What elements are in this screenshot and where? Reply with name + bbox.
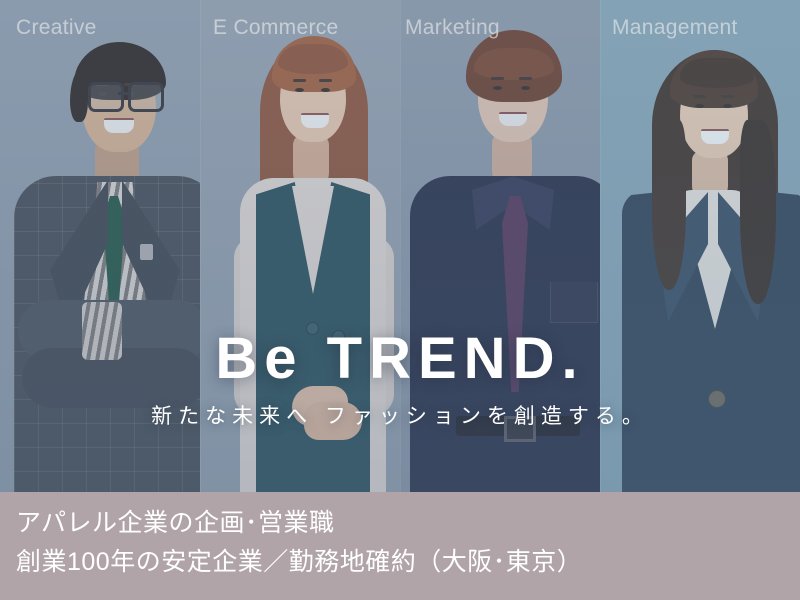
hair-side bbox=[70, 70, 88, 122]
headline-block: Be TREND. 新たな未来へ ファッションを創造する。 bbox=[0, 330, 800, 427]
caption-line-2: 創業100年の安定企業／勤務地確約（大阪･東京） bbox=[16, 543, 800, 582]
subheadline-text: 新たな未来へ ファッションを創造する。 bbox=[0, 406, 800, 427]
caption-line-1: アパレル企業の企画･営業職 bbox=[16, 504, 800, 543]
glasses-icon bbox=[88, 82, 158, 108]
category-label-row: Creative E Commerce Marketing Management bbox=[0, 0, 800, 56]
recruitment-banner: Creative E Commerce Marketing Management… bbox=[0, 0, 800, 600]
caption-bar: アパレル企業の企画･営業職 創業100年の安定企業／勤務地確約（大阪･東京） bbox=[0, 492, 800, 600]
glasses-bridge bbox=[118, 92, 128, 95]
brow-left bbox=[491, 77, 504, 80]
hair-side-left bbox=[652, 120, 686, 290]
brow-right bbox=[519, 77, 532, 80]
hair-bangs bbox=[680, 58, 754, 88]
brow-right bbox=[319, 79, 332, 82]
eye-right bbox=[521, 86, 530, 90]
category-label-creative: Creative bbox=[16, 16, 97, 40]
lapel-pin bbox=[140, 244, 153, 260]
glasses-lens-left bbox=[88, 82, 124, 112]
eye-right bbox=[321, 88, 330, 92]
brow-left bbox=[293, 79, 306, 82]
category-label-ecommerce: E Commerce bbox=[213, 16, 339, 40]
hair-side-right bbox=[740, 120, 776, 304]
eye-left bbox=[295, 88, 304, 92]
eye-right bbox=[723, 104, 732, 108]
smiling-mouth bbox=[499, 112, 527, 126]
shirt-pocket bbox=[550, 282, 598, 323]
category-label-marketing: Marketing bbox=[405, 16, 500, 40]
smiling-mouth bbox=[301, 113, 329, 128]
eye-left bbox=[493, 86, 502, 90]
brow-left bbox=[693, 95, 706, 98]
category-label-management: Management bbox=[612, 16, 738, 40]
headline-text: Be TREND. bbox=[0, 330, 800, 388]
eye-left bbox=[695, 104, 704, 108]
smiling-mouth bbox=[104, 118, 134, 133]
smiling-mouth bbox=[701, 129, 729, 144]
brow-right bbox=[721, 95, 734, 98]
glasses-lens-right bbox=[128, 82, 164, 112]
